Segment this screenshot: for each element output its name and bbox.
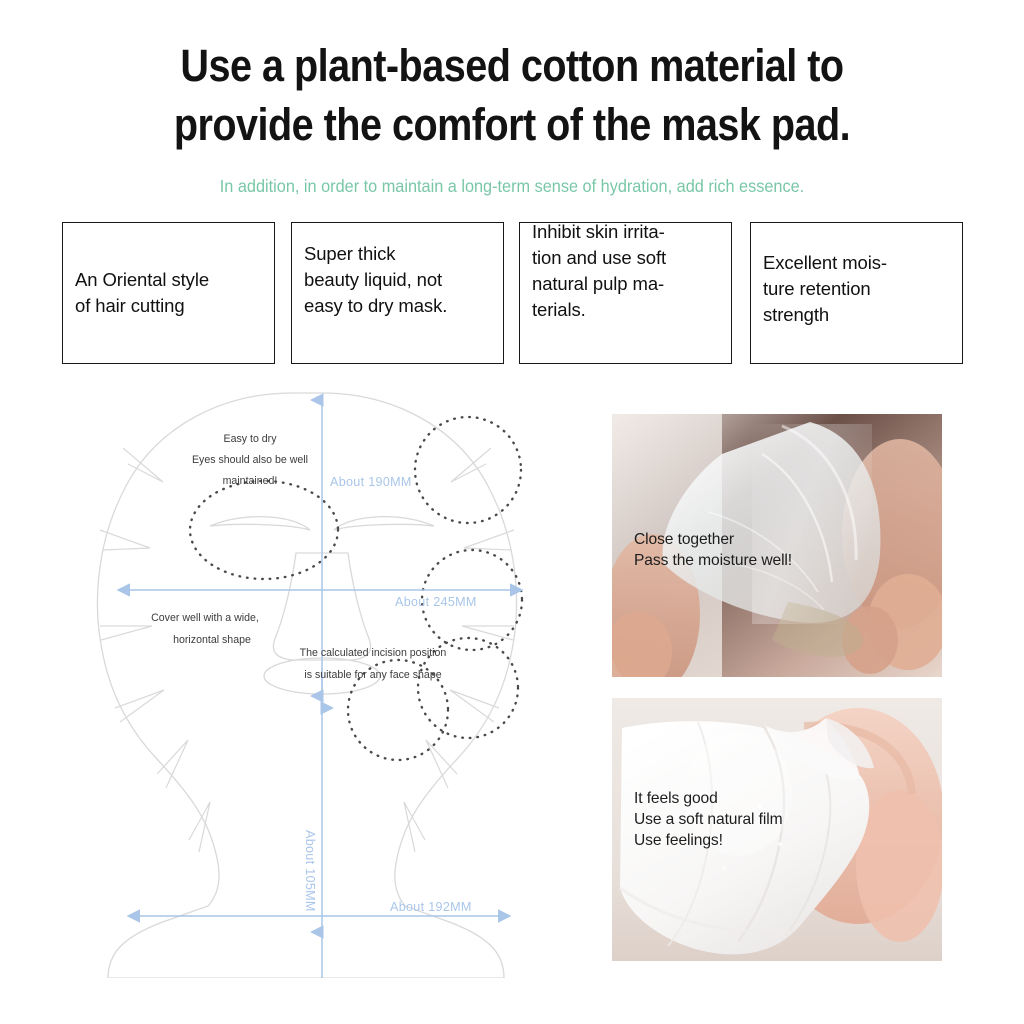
svg-text:Cover well with a wide,: Cover well with a wide, <box>151 612 259 624</box>
product-detail-page: Use a plant-based cotton material to pro… <box>0 0 1024 1024</box>
dimension-label-height-top: About 190MM <box>330 475 412 489</box>
feature-box-2: Super thick beauty liquid, not easy to d… <box>291 222 504 364</box>
svg-text:maintained!: maintained! <box>223 475 278 487</box>
photo-2-caption: It feels good Use a soft natural film Us… <box>634 788 783 851</box>
svg-text:Eyes should also be well: Eyes should also be well <box>192 454 308 466</box>
left-eye-cutout <box>210 517 310 530</box>
feature-box-1: An Oriental style of hair cutting <box>62 222 275 364</box>
feature-box-1-label: An Oriental style of hair cutting <box>75 267 262 319</box>
note-cover: Cover well with a wide, horizontal shape <box>151 612 259 646</box>
highlight-top-right-notch <box>415 417 521 523</box>
feature-box-2-label: Super thick beauty liquid, not easy to d… <box>304 241 491 319</box>
dimension-label-height-bottom: About 105MM <box>303 830 317 912</box>
svg-text:The calculated incision positi: The calculated incision position <box>300 647 447 659</box>
photo-1-caption: Close together Pass the moisture well! <box>634 529 792 571</box>
svg-text:horizontal shape: horizontal shape <box>173 634 251 646</box>
mask-left-notches <box>100 448 210 852</box>
feature-box-3-label: Inhibit skin irrita- tion and use soft n… <box>532 219 719 323</box>
page-headline: Use a plant-based cotton material to pro… <box>61 36 962 154</box>
svg-text:Easy to dry: Easy to dry <box>224 433 278 445</box>
svg-text:is suitable for any face shape: is suitable for any face shape <box>304 669 441 681</box>
mask-dimension-diagram: About 190MM About 245MM About 105MM Abou… <box>60 378 580 978</box>
feature-box-3: Inhibit skin irrita- tion and use soft n… <box>519 222 732 364</box>
photo-it-feels-good: It feels good Use a soft natural film Us… <box>612 698 942 961</box>
highlight-left-eye <box>190 481 338 579</box>
page-subheadline: In addition, in order to maintain a long… <box>36 174 988 198</box>
incision-highlight-circles <box>190 417 522 760</box>
feature-box-4-label: Excellent mois- ture retention strength <box>763 250 950 328</box>
feature-box-row: An Oriental style of hair cutting Super … <box>0 222 1024 368</box>
note-eyes: Easy to dry Eyes should also be well mai… <box>192 433 308 487</box>
feature-box-4: Excellent mois- ture retention strength <box>750 222 963 364</box>
photo-close-together: Close together Pass the moisture well! <box>612 414 942 677</box>
dimension-label-width-bottom: About 192MM <box>390 900 472 914</box>
dimension-lines <box>118 400 522 978</box>
right-eye-cutout <box>334 517 434 530</box>
dimension-label-width-mid: About 245MM <box>395 595 477 609</box>
